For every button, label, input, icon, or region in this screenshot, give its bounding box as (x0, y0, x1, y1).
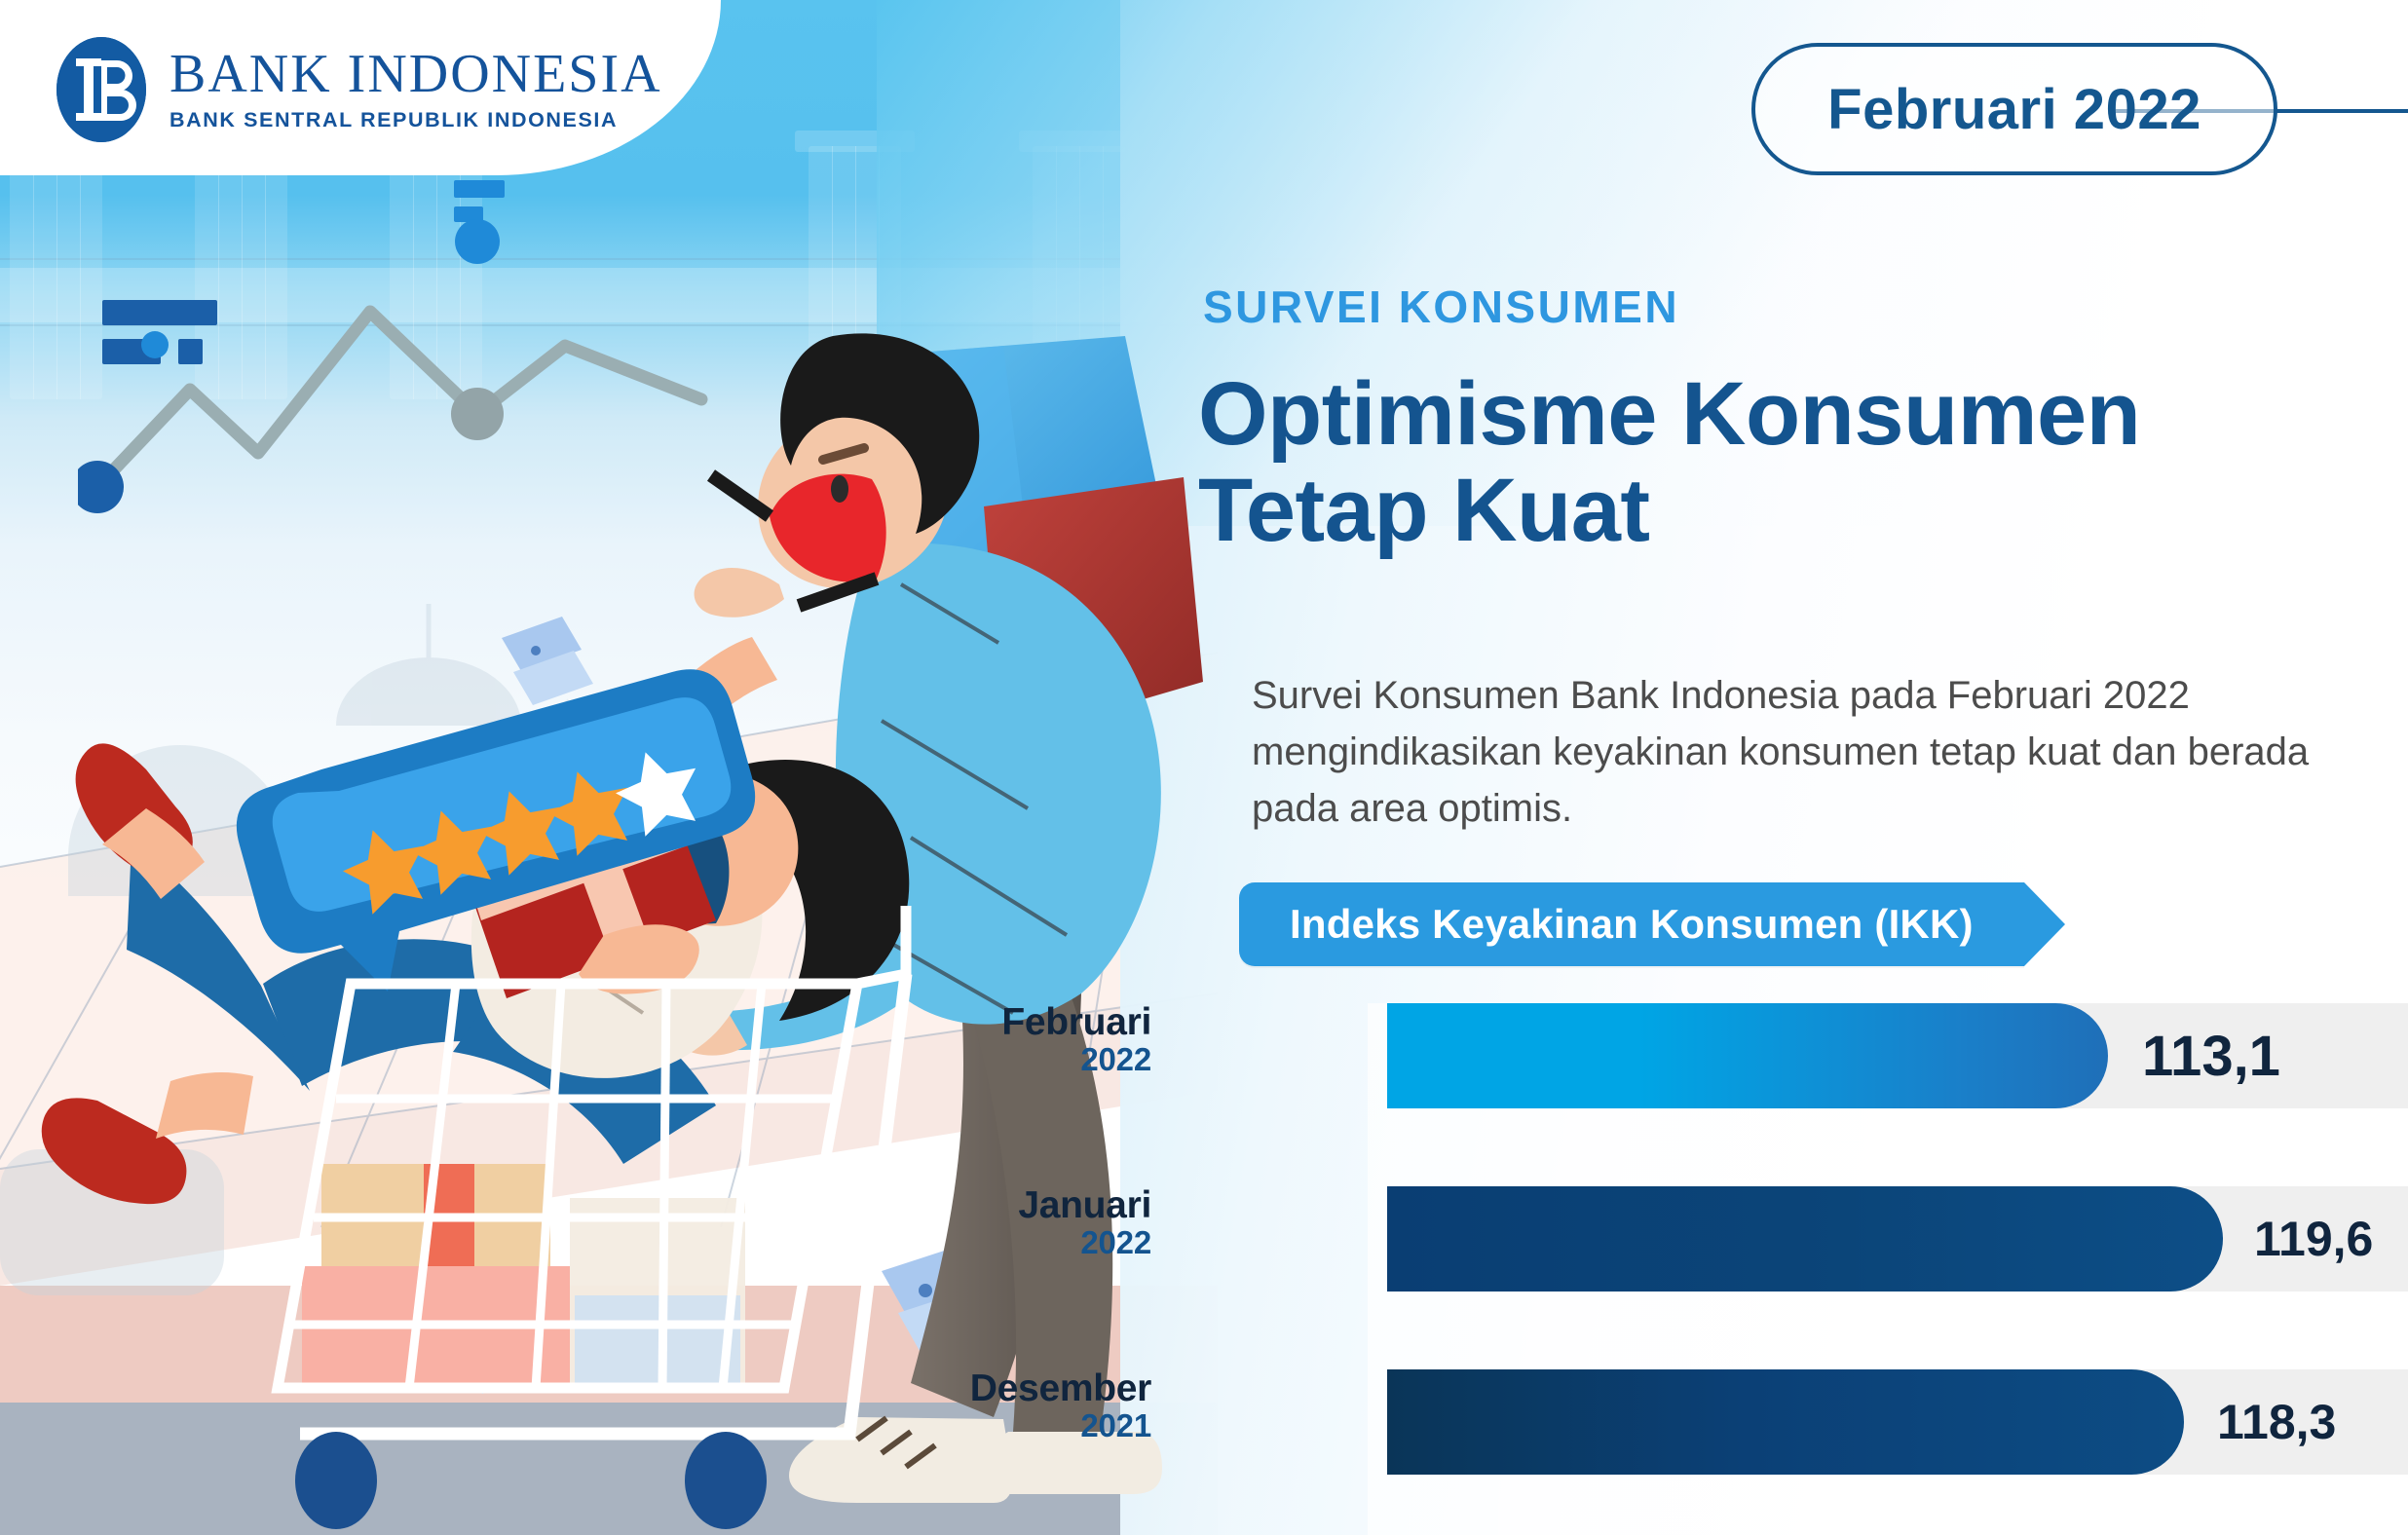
chart-row: Desember 2021 118,3 (0, 1369, 2408, 1475)
man-hand-up (695, 568, 784, 618)
row-year-0: 2022 (742, 1042, 1151, 1078)
headline-line-2: Tetap Kuat (1198, 463, 2396, 559)
kicker-text: SURVEI KONSUMEN (1203, 281, 1679, 333)
body-paragraph: Survei Konsumen Bank Indonesia pada Febr… (1252, 667, 2362, 837)
bar-value-1: 119,6 (2254, 1186, 2373, 1292)
brand-name: BANK INDONESIA (169, 47, 662, 101)
chart-row: Februari 2022 113,1 (0, 1003, 2408, 1108)
bar-2 (1387, 1369, 2184, 1475)
row-month-0: Februari (742, 1003, 1151, 1042)
row-year-1: 2022 (742, 1225, 1151, 1261)
date-badge-label: Februari 2022 (1827, 77, 2201, 142)
date-badge[interactable]: Februari 2022 (1751, 43, 2277, 175)
bank-indonesia-logo-icon (56, 37, 146, 142)
row-label-1: Januari 2022 (742, 1186, 1151, 1261)
bar-track-1: 119,6 (1387, 1186, 2408, 1292)
brand-tagline: BANK SENTRAL REPUBLIK INDONESIA (169, 108, 662, 132)
row-label-0: Februari 2022 (742, 1003, 1151, 1078)
chart-row: Januari 2022 119,6 (0, 1186, 2408, 1292)
infographic-canvas: BANK INDONESIA BANK SENTRAL REPUBLIK IND… (0, 0, 2408, 1535)
ikk-label-pill: Indeks Keyakinan Konsumen (IKK) (1239, 882, 2024, 966)
row-month-1: Januari (742, 1186, 1151, 1225)
row-label-2: Desember 2021 (742, 1369, 1151, 1444)
row-month-2: Desember (742, 1369, 1151, 1408)
money-note (502, 617, 593, 705)
bar-value-0: 113,1 (2142, 1003, 2280, 1108)
bar-value-2: 118,3 (2217, 1369, 2336, 1475)
bar-0 (1387, 1003, 2108, 1108)
bar-1 (1387, 1186, 2223, 1292)
headline-line-1: Optimisme Konsumen (1198, 364, 2140, 464)
bar-track-0: 113,1 (1387, 1003, 2408, 1108)
brand-logo[interactable]: BANK INDONESIA BANK SENTRAL REPUBLIK IND… (56, 37, 662, 142)
page-title: Optimisme Konsumen Tetap Kuat (1198, 366, 2396, 560)
bar-track-2: 118,3 (1387, 1369, 2408, 1475)
ikk-bar-chart: Februari 2022 113,1 Januari 2022 119,6 D… (0, 1003, 2408, 1535)
row-year-2: 2021 (742, 1408, 1151, 1444)
ikk-label-text: Indeks Keyakinan Konsumen (IKK) (1290, 901, 1974, 948)
